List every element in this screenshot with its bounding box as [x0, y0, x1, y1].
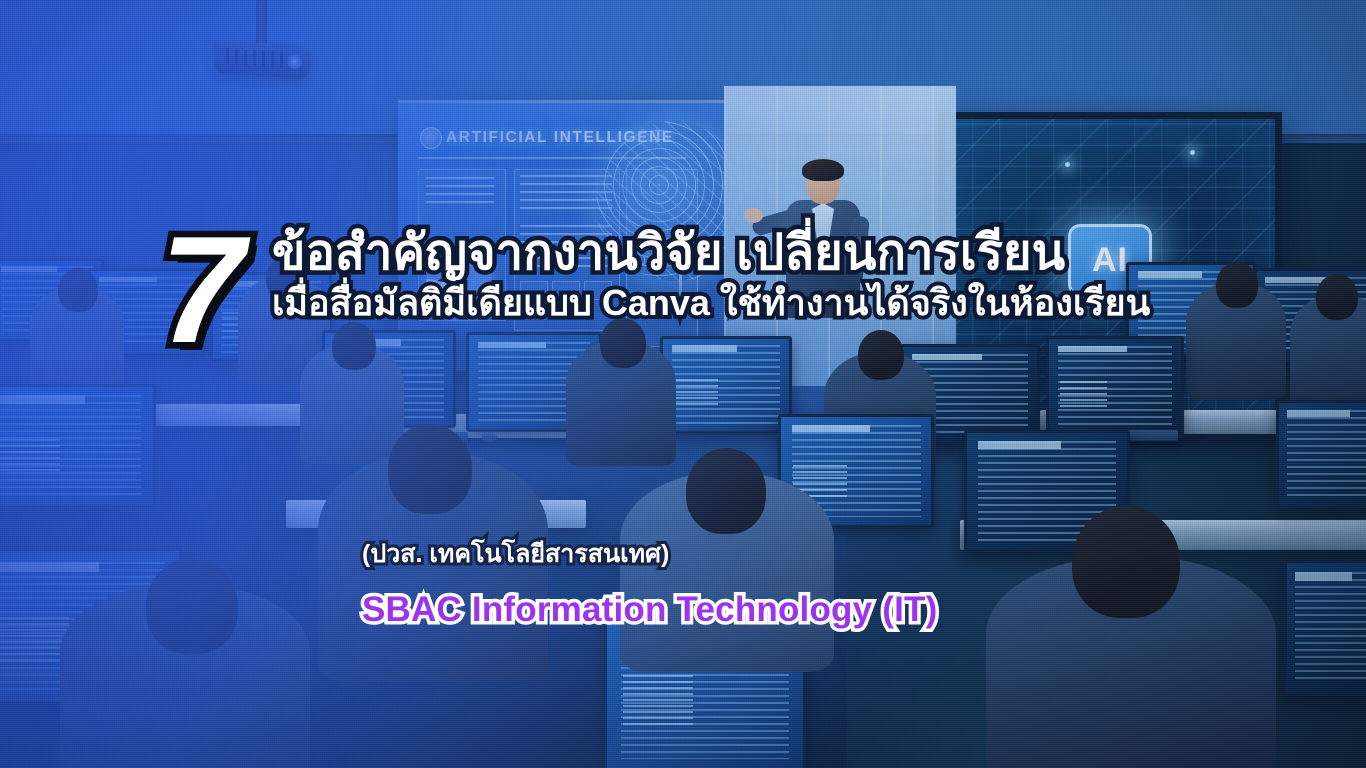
number-badge: 7: [160, 214, 241, 366]
subtitle-thai: (ปวส. เทคโนโลยีสารสนเทศ): [362, 534, 937, 574]
headline-text-layer: 7 ข้อสำคัญจากงานวิจัย เปลี่ยนการเรียน เม…: [0, 0, 1366, 768]
poster-canvas: ARTIFICIAL INTELLIGENE BRAIN: [0, 0, 1366, 768]
headline-line-1: ข้อสำคัญจากงานวิจัย เปลี่ยนการเรียน: [272, 228, 1150, 280]
headline-block: ข้อสำคัญจากงานวิจัย เปลี่ยนการเรียน เมื่…: [272, 228, 1150, 323]
headline-line-2: เมื่อสื่อมัลติมีเดียแบบ Canva ใช้ทำงานได…: [272, 284, 1150, 323]
subtitle-english: SBAC Information Technology (IT): [362, 590, 937, 630]
subtitle-block: (ปวส. เทคโนโลยีสารสนเทศ) SBAC Informatio…: [362, 534, 937, 630]
